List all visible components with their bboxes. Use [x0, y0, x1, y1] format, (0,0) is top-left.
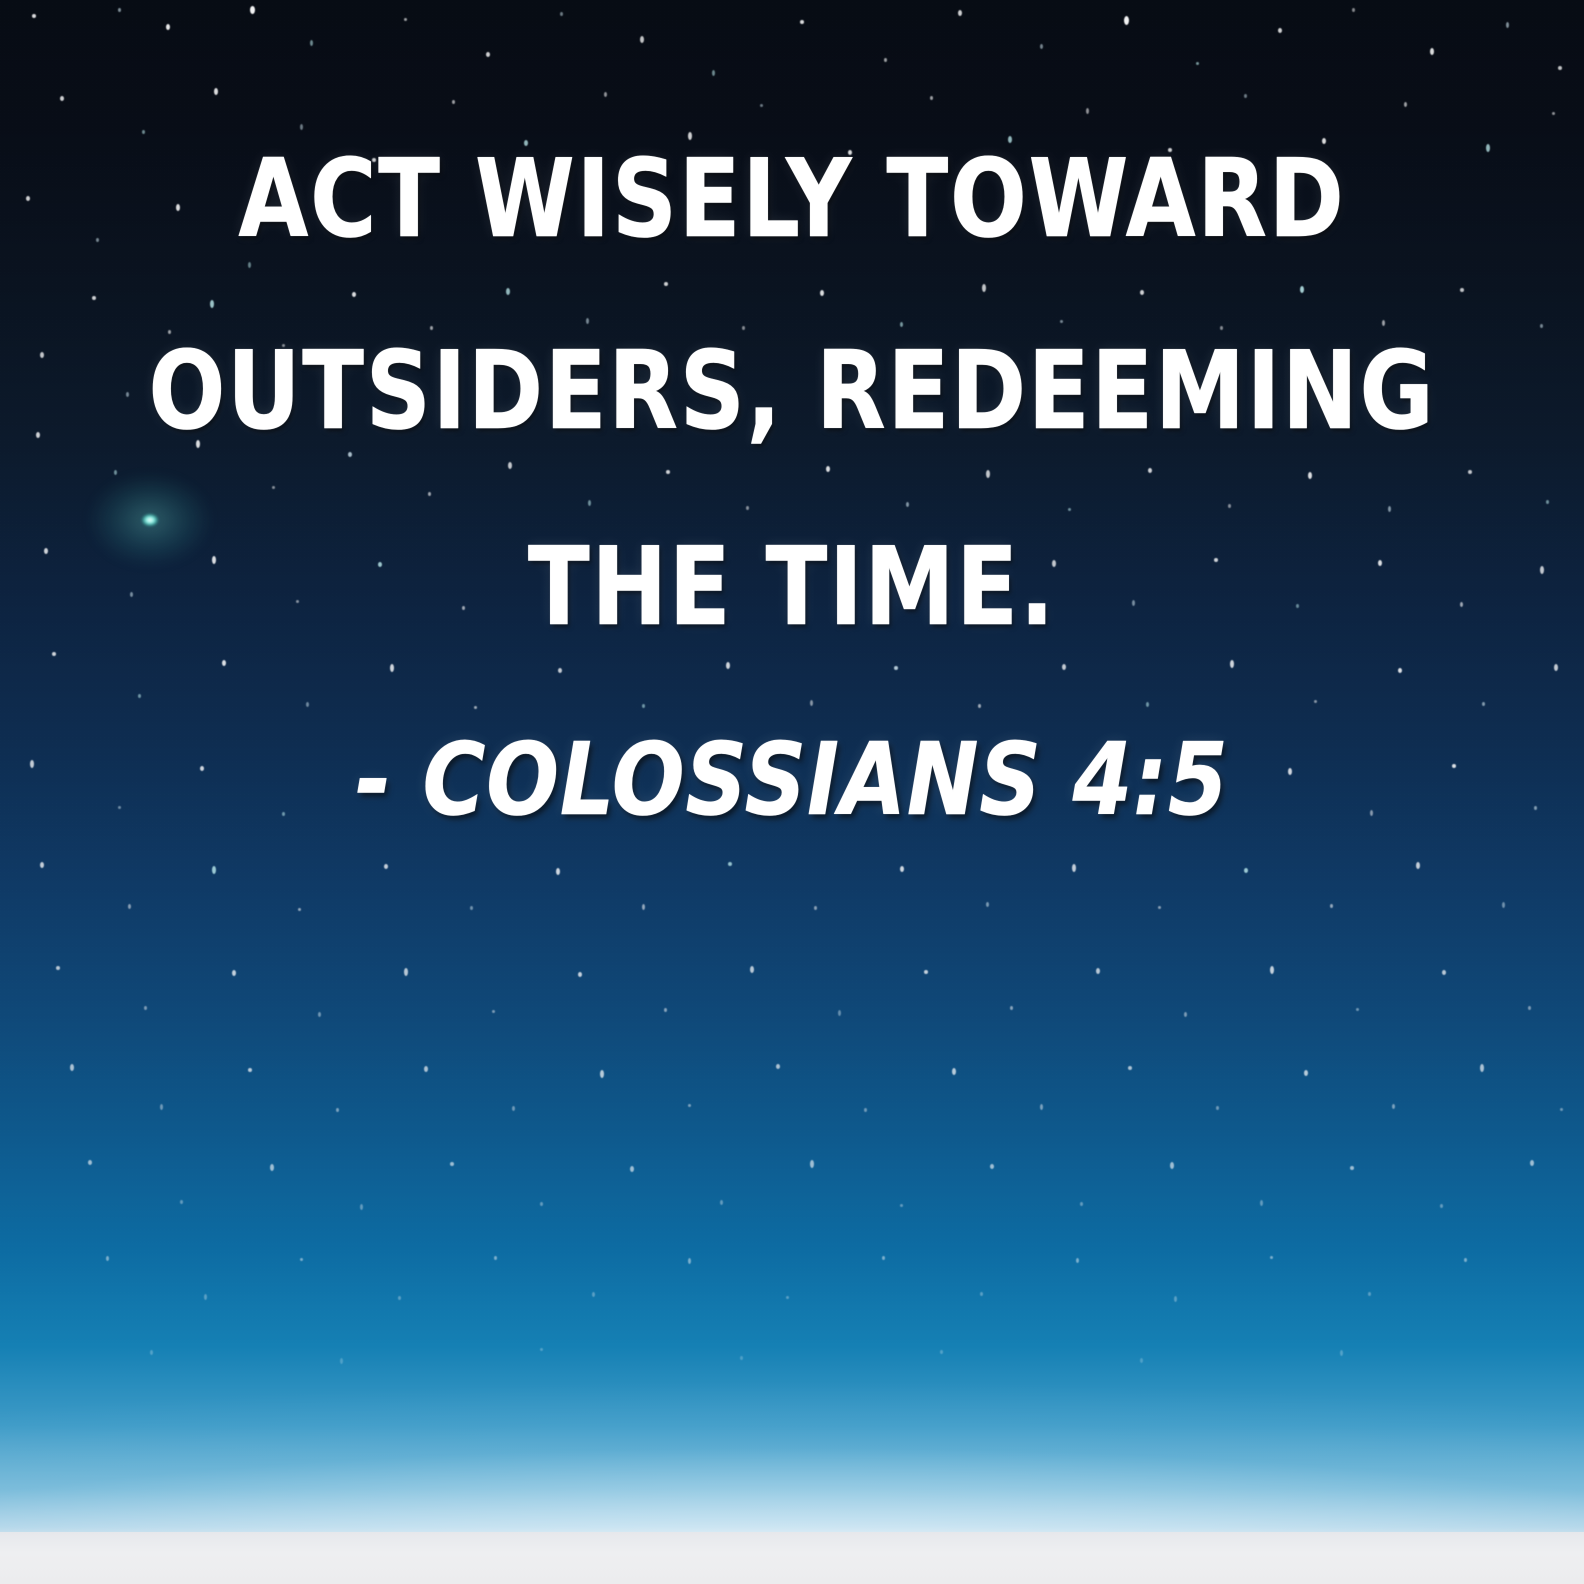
star: [210, 300, 214, 308]
star: [1040, 1104, 1043, 1110]
star: [118, 8, 121, 12]
star: [1340, 1350, 1343, 1356]
star: [300, 1258, 303, 1261]
star: [604, 92, 607, 97]
star: [688, 1258, 691, 1264]
star: [1398, 668, 1402, 673]
star: [884, 58, 887, 62]
star: [642, 704, 645, 708]
star: [558, 668, 562, 673]
star: [36, 432, 40, 438]
star: [56, 966, 60, 970]
star: [664, 1008, 667, 1012]
star: [1146, 702, 1149, 707]
star: [958, 10, 962, 16]
star: [1560, 1108, 1563, 1111]
star: [150, 1350, 153, 1355]
star: [1392, 1104, 1395, 1109]
star: [1196, 62, 1199, 65]
star: [1060, 320, 1063, 323]
star: [1062, 664, 1066, 670]
star: [212, 866, 216, 874]
star: [1068, 508, 1071, 511]
star: [560, 12, 563, 16]
star: [138, 694, 141, 698]
star: [492, 1010, 495, 1013]
star: [978, 704, 981, 708]
star: [32, 14, 36, 18]
star: [424, 1066, 428, 1072]
star: [1086, 108, 1089, 114]
quote-line-2: OUTSIDERS, REDEEMING: [55, 338, 1528, 446]
star: [452, 100, 455, 104]
star: [506, 288, 510, 295]
star: [160, 1104, 163, 1110]
star: [166, 24, 170, 30]
star: [1440, 1204, 1443, 1208]
star: [1442, 970, 1446, 975]
star: [820, 290, 824, 296]
star: [310, 40, 313, 46]
star: [1356, 1008, 1359, 1011]
star: [390, 664, 394, 672]
star: [248, 262, 251, 268]
star: [1502, 902, 1505, 908]
star: [1304, 1070, 1308, 1076]
star: [1540, 566, 1544, 574]
star: [556, 868, 560, 875]
star: [1170, 1162, 1174, 1169]
star: [1124, 16, 1129, 25]
star: [336, 1108, 339, 1112]
star: [1096, 968, 1100, 974]
star: [906, 502, 909, 507]
star: [826, 466, 830, 472]
star: [30, 760, 34, 768]
star: [250, 6, 255, 14]
star: [142, 130, 145, 134]
star: [924, 970, 928, 974]
star: [40, 352, 44, 358]
star: [838, 1010, 841, 1016]
star: [1270, 1256, 1273, 1259]
star: [1140, 1358, 1143, 1363]
star: [814, 906, 817, 910]
star: [640, 36, 644, 43]
star: [666, 470, 670, 474]
star: [1554, 664, 1558, 671]
star: [214, 88, 218, 95]
star: [1140, 290, 1144, 295]
star: [940, 1350, 943, 1354]
star: [810, 700, 813, 706]
star: [740, 1356, 743, 1360]
star: [1416, 862, 1420, 869]
star: [474, 706, 477, 709]
star: [776, 1064, 780, 1069]
star: [1558, 66, 1562, 70]
star: [712, 70, 715, 76]
star: [586, 318, 589, 324]
star: [1174, 1296, 1177, 1302]
star: [1270, 966, 1274, 974]
star: [44, 548, 48, 554]
star: [982, 284, 986, 292]
ground-band: [0, 1532, 1584, 1584]
star: [1128, 1066, 1132, 1070]
star: [1260, 1200, 1263, 1206]
star: [222, 660, 226, 666]
star: [1244, 94, 1247, 98]
star: [1540, 324, 1543, 328]
star: [1244, 868, 1248, 873]
star: [1314, 700, 1317, 703]
star: [1230, 660, 1234, 668]
star: [404, 18, 407, 21]
star: [1482, 702, 1485, 706]
star: [340, 1358, 343, 1364]
star: [1040, 44, 1043, 49]
star: [1158, 906, 1161, 909]
star: [930, 96, 933, 100]
star: [1184, 1012, 1187, 1017]
star: [1228, 504, 1231, 508]
star: [728, 862, 732, 866]
star: [1382, 320, 1385, 326]
quote-line-1: ACT WISELY TOWARD: [55, 146, 1528, 254]
star: [760, 104, 763, 107]
star: [248, 1068, 252, 1072]
star: [1300, 286, 1304, 293]
star: [352, 292, 356, 297]
star: [688, 1104, 691, 1107]
star: [1072, 864, 1076, 872]
star: [540, 1348, 543, 1351]
star: [1388, 506, 1391, 512]
star: [114, 470, 117, 475]
star: [952, 1068, 956, 1075]
star: [398, 1296, 401, 1300]
star: [1216, 1106, 1219, 1110]
star: [900, 866, 904, 872]
star: [1480, 1064, 1484, 1072]
star: [1528, 1006, 1531, 1010]
star: [986, 470, 990, 478]
star: [726, 662, 730, 669]
star: [1308, 472, 1312, 479]
star: [1278, 28, 1282, 33]
star: [360, 1204, 363, 1210]
star: [990, 1164, 994, 1169]
star: [1368, 1292, 1371, 1296]
star: [428, 492, 431, 496]
star: [270, 1164, 274, 1171]
star: [1460, 288, 1464, 292]
star: [40, 862, 44, 868]
star: [1468, 470, 1472, 474]
star: [180, 1200, 183, 1204]
star: [900, 1204, 903, 1207]
star: [720, 1200, 723, 1205]
star: [900, 322, 903, 327]
star: [800, 20, 804, 24]
horizon-glow: [0, 1294, 1584, 1584]
star: [272, 486, 275, 489]
star: [232, 970, 236, 976]
star: [1080, 1202, 1083, 1206]
star: [508, 462, 512, 469]
star: [1404, 102, 1407, 107]
star: [600, 1070, 604, 1078]
star: [470, 906, 473, 910]
star: [450, 1162, 454, 1166]
star: [810, 1160, 814, 1168]
star: [980, 1292, 983, 1296]
star: [630, 1166, 634, 1172]
star: [1350, 1166, 1354, 1170]
star: [540, 1202, 543, 1206]
star: [1352, 8, 1355, 12]
star: [52, 652, 56, 656]
star: [746, 506, 749, 510]
star: [300, 124, 303, 130]
star: [592, 1292, 595, 1297]
star: [486, 52, 490, 57]
star: [750, 966, 754, 973]
star: [882, 1256, 885, 1260]
star: [70, 1064, 74, 1071]
star: [1430, 48, 1434, 55]
star: [1530, 1160, 1534, 1166]
star: [664, 282, 668, 286]
star: [494, 1256, 497, 1260]
star: [588, 500, 591, 506]
star: [298, 908, 301, 911]
star: [578, 972, 582, 977]
bright-star: [142, 514, 158, 526]
star: [1148, 468, 1152, 473]
quote-line-3: THE TIME.: [55, 534, 1528, 642]
star: [894, 666, 898, 670]
star: [384, 864, 388, 869]
star: [60, 96, 64, 101]
verse-attribution: - COLOSSIANS 4:5: [40, 730, 1545, 830]
star: [642, 904, 645, 910]
star: [26, 196, 30, 201]
star: [106, 1256, 109, 1261]
star: [786, 1296, 789, 1299]
quote-image-canvas: ACT WISELY TOWARD OUTSIDERS, REDEEMING T…: [0, 0, 1584, 1584]
star: [986, 902, 989, 907]
star: [306, 702, 309, 707]
star: [1076, 1258, 1079, 1263]
star: [144, 1006, 147, 1010]
star: [92, 296, 96, 300]
star: [318, 1012, 321, 1017]
star: [204, 1294, 207, 1300]
star: [512, 1106, 515, 1111]
star: [88, 1160, 92, 1165]
star: [864, 1108, 867, 1112]
star: [1506, 22, 1509, 28]
star: [404, 968, 408, 976]
star: [1010, 1006, 1013, 1010]
star: [1552, 112, 1555, 115]
star: [1546, 500, 1549, 504]
star: [128, 904, 131, 909]
star: [1464, 1258, 1467, 1262]
star: [1330, 904, 1333, 908]
